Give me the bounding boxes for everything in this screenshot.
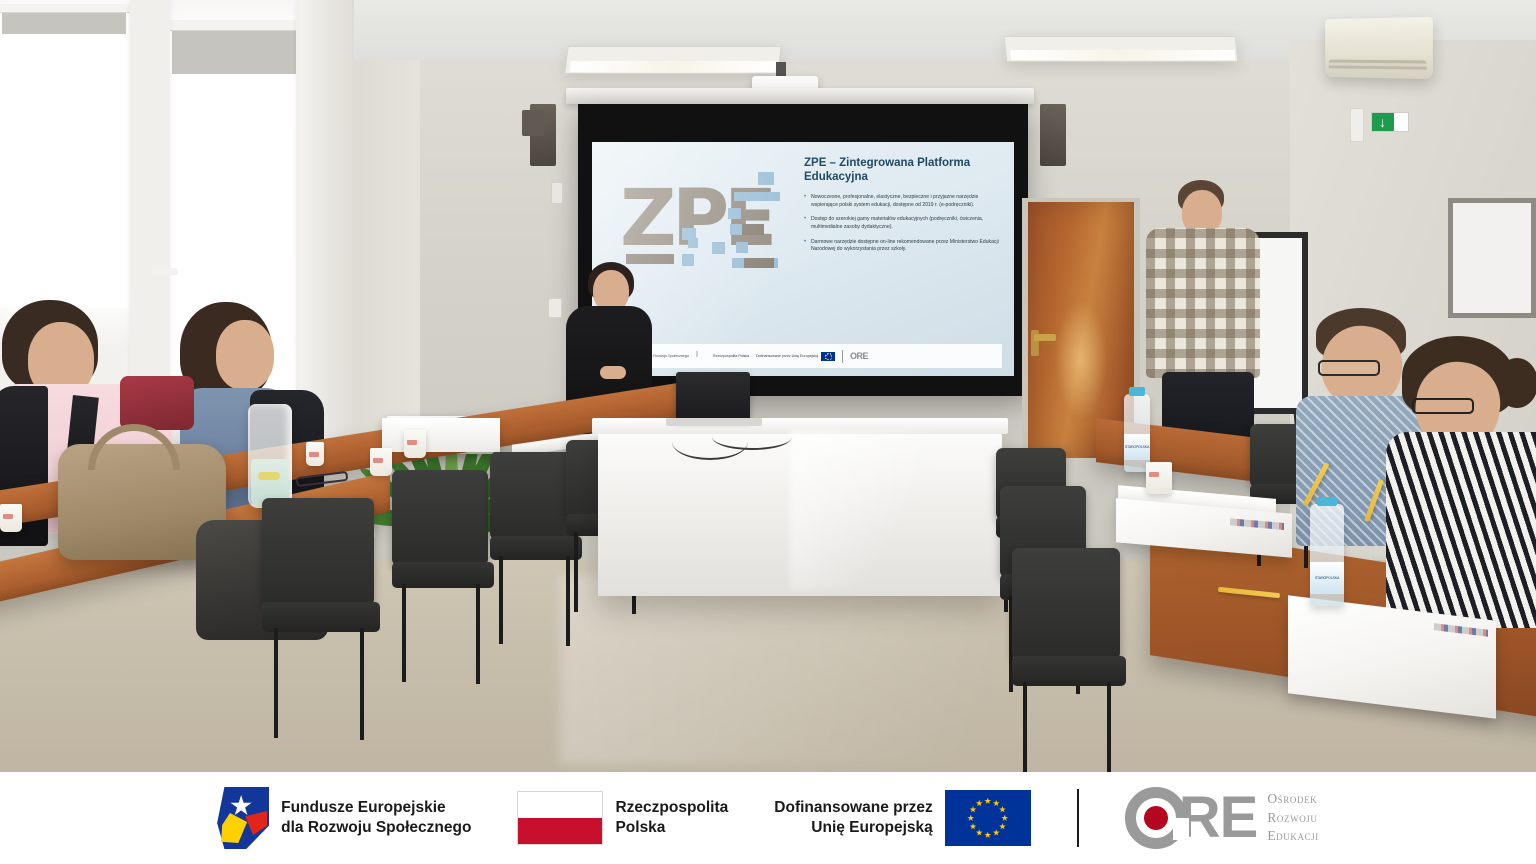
slide-logo-poland: Rzeczpospolita Polska <box>696 352 749 361</box>
eu-star-icon <box>827 359 828 360</box>
eu-star-icon <box>984 832 991 839</box>
window-pane-left <box>0 8 128 308</box>
standing-man <box>1146 180 1262 464</box>
blind-bar-right <box>166 20 312 31</box>
slide-bullet-list: Nowoczesne, profesjonalne, elastyczne, b… <box>804 194 1004 261</box>
ore-letters: RE <box>1179 791 1258 844</box>
footer-divider <box>1077 789 1079 847</box>
door-light-reflection <box>1055 300 1107 420</box>
logo-european-union: Dofinansowane przez Unię Europejską <box>774 790 1030 846</box>
eu-star-icon <box>825 355 826 356</box>
eu-star-icon <box>976 800 983 807</box>
seated-woman3-striped-shirt <box>1386 432 1536 628</box>
paper-bag-stripe <box>1434 623 1488 637</box>
eu-star-icon <box>830 359 831 360</box>
water-bottle: STAROPOLSKA <box>1124 394 1150 472</box>
ceiling-light-left <box>564 46 781 74</box>
bottle-cap <box>1129 387 1145 396</box>
eyeglasses-icon <box>1318 360 1380 376</box>
logo-ore: RE Ośrodek Rozwoju Edukacji <box>1125 787 1319 849</box>
eu-star-icon <box>999 806 1006 813</box>
exit-sign-panel <box>1394 113 1408 131</box>
seated-woman-writing <box>1392 336 1536 626</box>
eu-flag-icon <box>945 790 1031 846</box>
slide-bullet-3: Darmowe narzędzie dostępne on-line rekom… <box>804 239 1004 254</box>
paper-bag-stripe <box>1230 518 1284 530</box>
eu-star-icon <box>827 353 828 354</box>
european-union-line1: Dofinansowane przez <box>774 799 932 816</box>
water-bottle: STAROPOLSKA <box>1310 504 1344 606</box>
bottle-cap <box>1317 497 1337 506</box>
lemon-slice <box>258 472 280 480</box>
window-blind-right <box>172 26 304 74</box>
cable <box>712 424 792 450</box>
wall-sensor <box>551 182 563 204</box>
ore-ring-icon <box>1125 787 1187 849</box>
air-conditioner-unit <box>1325 17 1433 79</box>
paper-cup <box>0 504 22 532</box>
european-funds-label: Fundusze Europejskie dla Rozwoju Społecz… <box>281 798 471 838</box>
eu-star-icon <box>984 798 991 805</box>
ore-line1: Ośrodek <box>1267 791 1317 806</box>
seated-woman3-hair-bun <box>1496 358 1536 408</box>
eu-star-icon <box>999 823 1006 830</box>
ore-mark-icon: RE <box>1125 787 1258 849</box>
wall-whiteboard <box>1448 198 1536 318</box>
exit-arrow-icon <box>1372 113 1394 131</box>
european-funds-line1: Fundusze Europejskie <box>281 799 446 816</box>
light-tube <box>570 61 777 72</box>
poland-flag-icon <box>517 791 603 845</box>
slide-title: ZPE – Zintegrowana Platforma Edukacyjna <box>804 156 1000 185</box>
eu-star-icon <box>993 829 1000 836</box>
door-handle[interactable] <box>1034 334 1056 341</box>
eu-star-icon <box>1001 815 1008 822</box>
eyeglasses-icon <box>1412 398 1474 414</box>
seated-woman2-head <box>216 320 274 390</box>
poland-label: Rzeczpospolita Polska <box>615 798 728 838</box>
slide-logo-ore: ORE <box>850 351 868 361</box>
exit-sign <box>1371 112 1409 132</box>
eu-star-icon <box>825 358 826 359</box>
ac-vent <box>1329 60 1427 73</box>
bottle-label: STAROPOLSKA <box>1310 562 1344 594</box>
european-union-line2: Unię Europejską <box>811 819 932 836</box>
screenshot-root: Z P E ZPE – Zintegr <box>0 0 1536 864</box>
water-carafe <box>248 404 292 508</box>
ore-dot-icon <box>1144 806 1168 830</box>
eu-star-icon <box>993 800 1000 807</box>
standing-man-checked-shirt <box>1146 228 1260 378</box>
paper-cup <box>306 442 324 466</box>
paper-cup <box>1146 462 1172 494</box>
zpe-logo-letter-z: Z <box>620 180 675 258</box>
slide-footer-logos: Fundusze Europejskie dla Rozwoju Społecz… <box>604 344 1002 368</box>
eu-star-icon <box>976 829 983 836</box>
slide-bullet-1: Nowoczesne, profesjonalne, elastyczne, b… <box>804 194 1004 209</box>
slide-logo-poland-label: Rzeczpospolita Polska <box>713 354 749 358</box>
ore-line2: Rozwoju <box>1267 810 1317 825</box>
slide-logo-eu: Dofinansowane przez Unię Europejską <box>756 352 835 361</box>
ceiling-light-right <box>1004 36 1239 62</box>
footer-logo-bar: Fundusze Europejskie dla Rozwoju Społecz… <box>0 772 1536 864</box>
logo-poland: Rzeczpospolita Polska <box>517 791 728 845</box>
light-tube <box>1010 50 1235 60</box>
projection-screen-housing <box>566 88 1034 104</box>
slide-logo-eu-label: Dofinansowane przez Unię Europejską <box>756 354 818 358</box>
conference-room-photo: Z P E ZPE – Zintegr <box>0 0 1536 772</box>
european-funds-line2: dla Rozwoju Społecznego <box>281 819 471 836</box>
ore-line3: Edukacji <box>1267 828 1319 843</box>
ore-wordmark: Ośrodek Rozwoju Edukacji <box>1267 790 1319 846</box>
presenter-hands <box>600 366 626 379</box>
eu-star-icon <box>970 823 977 830</box>
desk-light-reflection <box>790 430 940 590</box>
bottle-label: STAROPOLSKA <box>1124 434 1150 460</box>
european-union-label: Dofinansowane przez Unię Europejską <box>774 798 932 838</box>
paper-cup <box>370 448 392 476</box>
european-funds-icon <box>217 787 269 849</box>
wall-bracket <box>522 110 544 136</box>
red-bag <box>120 376 194 430</box>
laptop[interactable] <box>676 372 750 420</box>
window-handle[interactable] <box>152 268 178 275</box>
slide-bullet-2: Dostęp do szerokiej gamy materiałów eduk… <box>804 216 1004 231</box>
poland-line1: Rzeczpospolita <box>615 799 728 816</box>
poland-flag-icon <box>696 352 710 361</box>
eu-star-icon <box>970 806 977 813</box>
poland-line2: Polska <box>615 819 665 836</box>
paper-cup <box>404 430 426 458</box>
slide-logo-divider <box>842 350 843 363</box>
logo-european-funds: Fundusze Europejskie dla Rozwoju Społecz… <box>217 787 471 849</box>
eu-flag-icon <box>821 352 835 361</box>
wall-speaker-right <box>1040 104 1066 166</box>
white-box-on-table <box>382 418 500 452</box>
eu-star-icon <box>967 815 974 822</box>
emergency-light-bracket <box>1350 108 1364 142</box>
blind-bar-left <box>0 4 130 13</box>
